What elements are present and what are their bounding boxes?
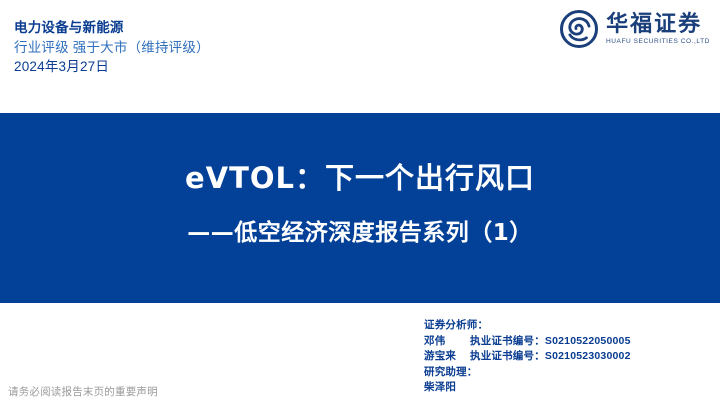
report-date: 2024年3月27日 [14, 57, 210, 77]
industry-name: 电力设备与新能源 [14, 18, 210, 38]
analyst-name: 邓伟 [424, 334, 470, 350]
logo-company-name-en: HUAFU SECURITIES CO.,LTD [606, 38, 710, 46]
analyst-row: 游宝来 执业证书编号：S0210523030002 [424, 349, 631, 365]
analyst-block: 证券分析师： 邓伟 执业证书编号：S0210522050005 游宝来 执业证书… [424, 318, 631, 396]
huafu-swirl-icon [559, 9, 599, 49]
logo-wordmark: 华福证券 HUAFU SECURITIES CO.,LTD [606, 13, 708, 46]
analyst-name: 游宝来 [424, 349, 470, 365]
title-banner: eVTOL：下一个出行风口 ——低空经济深度报告系列（1） [0, 113, 720, 303]
industry-rating: 行业评级 强于大市（维持评级） [14, 38, 210, 58]
company-logo: 华福证券 HUAFU SECURITIES CO.,LTD [559, 9, 708, 49]
analyst-row: 邓伟 执业证书编号：S0210522050005 [424, 334, 631, 350]
assistant-section-heading: 研究助理： [424, 365, 631, 381]
analyst-certificate: 执业证书编号：S0210522050005 [470, 334, 631, 350]
page-header: 电力设备与新能源 行业评级 强于大市（维持评级） 2024年3月27日 华福证券… [0, 0, 720, 113]
page-title: eVTOL：下一个出行风口 [0, 155, 720, 197]
page-subtitle: ——低空经济深度报告系列（1） [0, 213, 720, 247]
footer-disclaimer: 请务必阅读报告末页的重要声明 [8, 384, 158, 399]
header-meta-block: 电力设备与新能源 行业评级 强于大市（维持评级） 2024年3月27日 [14, 18, 210, 77]
logo-company-name-cn: 华福证券 [606, 13, 702, 36]
analyst-certificate: 执业证书编号：S0210523030002 [470, 349, 631, 365]
assistant-name: 柴泽阳 [424, 380, 631, 396]
analyst-section-heading: 证券分析师： [424, 318, 631, 334]
report-cover-page: 电力设备与新能源 行业评级 强于大市（维持评级） 2024年3月27日 华福证券… [0, 0, 720, 405]
